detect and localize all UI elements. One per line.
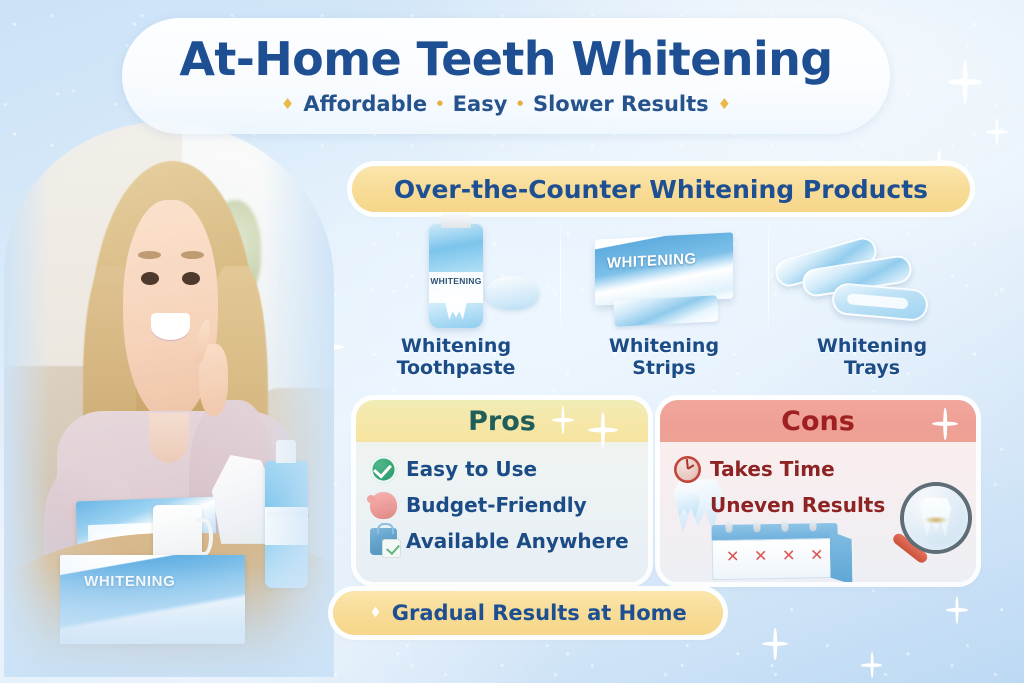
footer-banner: ♦Gradual Results at Home <box>333 591 723 635</box>
tooth-icon <box>444 295 468 321</box>
cons-panel: Cons Takes Time Uneven Results ✕ ✕ ✕ ✕ <box>660 400 976 582</box>
page-title: At-Home Teeth Whitening <box>122 32 890 86</box>
infographic-poster: WHITENING WHITENING At-Home Teeth Whiten… <box>0 0 1024 683</box>
bullet-dot-icon: • <box>435 95 445 113</box>
cons-heading: Cons <box>660 400 976 442</box>
product-label-strips: Whitening Strips <box>609 336 719 379</box>
photo-bottle-label: WHITENING <box>267 512 305 519</box>
photo-eyebrow-right <box>181 251 204 259</box>
strips-box-label: WHITENING <box>607 250 696 272</box>
product-art-strips: WHITENING <box>560 214 768 336</box>
whitening-strip-icon <box>613 295 718 326</box>
toothpaste-dish-icon <box>485 276 539 310</box>
product-label-line1: Whitening <box>397 336 516 358</box>
product-label-line1: Whitening <box>817 336 927 358</box>
pros-list-item: Budget-Friendly <box>370 487 648 523</box>
diamond-icon: ♦ <box>718 95 731 113</box>
calendar-mark-x: ✕ <box>726 549 740 565</box>
subtitle-item-easy: Easy <box>453 92 508 116</box>
cons-list-item: Takes Time <box>674 451 976 487</box>
product-art-toothpaste: WHITENING <box>352 214 560 336</box>
product-label-line1: Whitening <box>609 336 719 358</box>
product-item-whitening-strips: WHITENING Whitening Strips <box>560 214 768 390</box>
photo-whitening-box: WHITENING <box>60 555 245 644</box>
page-subtitle: ♦Affordable•Easy•Slower Results♦ <box>122 92 890 116</box>
pros-panel: Pros Easy to Use Budget-Friendly Availab… <box>356 400 648 582</box>
sparkle-icon <box>762 628 788 660</box>
photo-mouthwash-bottle: WHITENING <box>265 461 308 589</box>
pros-item-label: Easy to Use <box>406 457 537 481</box>
bottle-cap-icon <box>441 212 471 228</box>
product-label-toothpaste: Whitening Toothpaste <box>397 336 516 379</box>
products-section-banner: Over-the-Counter Whitening Products <box>352 166 970 212</box>
sparkle-icon <box>948 60 982 104</box>
footer-banner-label: Gradual Results at Home <box>392 601 687 625</box>
title-card: At-Home Teeth Whitening ♦Affordable•Easy… <box>122 18 890 134</box>
shopping-bag-check-icon <box>370 528 397 555</box>
cons-list: Takes Time Uneven Results <box>660 442 976 523</box>
cons-item-label: Uneven Results <box>710 493 885 517</box>
piggy-bank-icon <box>370 492 397 519</box>
calendar-mark-x: ✕ <box>782 548 796 564</box>
subtitle-item-affordable: Affordable <box>303 92 427 116</box>
photo-neckline <box>149 413 189 463</box>
calendar-fold <box>830 531 853 582</box>
tooth-icon <box>674 492 701 519</box>
cons-item-label: Takes Time <box>710 457 835 481</box>
bullet-dot-icon: • <box>515 95 525 113</box>
product-item-whitening-trays: Whitening Trays <box>768 214 976 390</box>
product-label-line2: Trays <box>817 358 927 380</box>
clock-icon <box>674 456 701 483</box>
product-art-trays <box>768 214 976 336</box>
hero-photo: WHITENING WHITENING <box>4 122 334 677</box>
photo-box-label: WHITENING <box>84 573 175 590</box>
pros-item-label: Available Anywhere <box>406 529 629 553</box>
product-label-line2: Strips <box>609 358 719 380</box>
pros-list: Easy to Use Budget-Friendly Available An… <box>356 442 648 559</box>
bottle-label-text: WHITENING <box>429 276 483 286</box>
sparkle-icon <box>946 596 968 624</box>
check-circle-icon <box>370 456 397 483</box>
pros-list-item: Available Anywhere <box>370 523 648 559</box>
calendar-mark-x: ✕ <box>810 547 824 563</box>
calendar-icon: ✕ ✕ ✕ ✕ <box>711 523 838 582</box>
sparkle-icon <box>862 652 882 678</box>
products-row: WHITENING Whitening Toothpaste WHITENING… <box>352 214 976 390</box>
calendar-mark-x: ✕ <box>754 548 768 564</box>
diamond-icon: ♦ <box>369 605 382 621</box>
pros-list-item: Easy to Use <box>370 451 648 487</box>
diamond-icon: ♦ <box>281 95 294 113</box>
product-label-trays: Whitening Trays <box>817 336 927 379</box>
product-item-whitening-toothpaste: WHITENING Whitening Toothpaste <box>352 214 560 390</box>
product-label-line2: Toothpaste <box>397 358 516 380</box>
toothpaste-bottle-icon: WHITENING <box>429 224 483 328</box>
pros-heading: Pros <box>356 400 648 442</box>
cons-list-item: Uneven Results <box>674 487 976 523</box>
photo-eyebrow-left <box>138 251 161 259</box>
subtitle-item-slower-results: Slower Results <box>533 92 709 116</box>
pros-item-label: Budget-Friendly <box>406 493 587 517</box>
sparkle-icon <box>986 118 1008 146</box>
whitening-tray-icon <box>831 282 929 322</box>
